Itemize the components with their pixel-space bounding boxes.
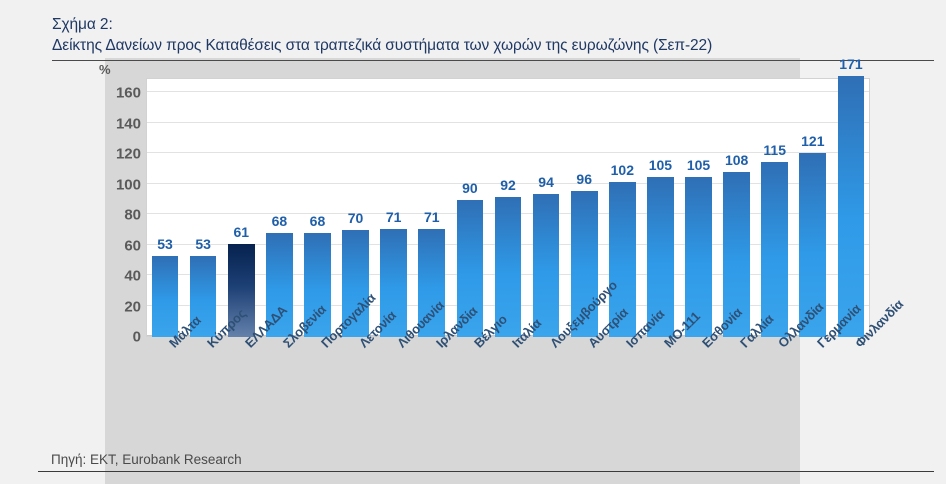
bar-value-label: 68: [310, 213, 326, 229]
y-tick-label-120: 120: [99, 146, 141, 163]
bar-value-label: 121: [801, 133, 824, 149]
y-tick-label-60: 60: [99, 237, 141, 254]
bar-value-label: 105: [649, 157, 672, 173]
y-tick-label-0: 0: [99, 329, 141, 346]
source-note: Πηγή: ΕΚΤ, Eurobank Research: [51, 452, 242, 467]
bar-slot: 53: [184, 78, 222, 337]
bar-value-label: 61: [233, 224, 249, 240]
bar-slot: 61: [222, 78, 260, 337]
bar-Μάλτα[interactable]: [152, 256, 179, 337]
bar-slot: 105: [641, 78, 679, 337]
y-tick-label-20: 20: [99, 298, 141, 315]
bar-slot: 53: [146, 78, 184, 337]
bar-value-label: 108: [725, 152, 748, 168]
bar-slot: 115: [756, 78, 794, 337]
y-tick-label-160: 160: [99, 85, 141, 102]
bar-slot: 71: [375, 78, 413, 337]
bar-value-label: 105: [687, 157, 710, 173]
y-tick-label-80: 80: [99, 207, 141, 224]
y-axis-unit-label: %: [99, 62, 111, 77]
page-root: Σχήμα 2: Δείκτης Δανείων προς Καταθέσεις…: [0, 0, 946, 484]
bar-chart: % 020406080100120140160 5353616868707171…: [0, 0, 946, 484]
bar-value-label: 96: [576, 171, 592, 187]
bar-value-label: 115: [763, 142, 786, 158]
bar-slot: 68: [260, 78, 298, 337]
bar-value-label: 53: [157, 236, 173, 252]
x-axis-labels: ΜάλταΚύπροςΕΛΛΑΔΑΣλοβενίαΠορτογαλίαΛετον…: [146, 340, 870, 420]
bar-value-label: 102: [611, 162, 634, 178]
bar-slot: 94: [527, 78, 565, 337]
y-tick-label-40: 40: [99, 268, 141, 285]
bar-slot: 92: [489, 78, 527, 337]
y-axis-ticks: 020406080100120140160: [95, 78, 141, 337]
bar-slot: 108: [718, 78, 756, 337]
bar-slot: 68: [298, 78, 336, 337]
y-tick-label-100: 100: [99, 176, 141, 193]
bar-value-label: 71: [424, 209, 440, 225]
y-tick-label-140: 140: [99, 115, 141, 132]
bar-value-label: 70: [348, 210, 364, 226]
bar-slot: 105: [679, 78, 717, 337]
bar-value-label: 171: [839, 56, 862, 72]
bar-slot: 171: [832, 78, 870, 337]
bar-value-label: 90: [462, 180, 478, 196]
bar-Φινλανδία[interactable]: [838, 76, 865, 337]
bar-value-label: 94: [538, 174, 554, 190]
bar-value-label: 71: [386, 209, 402, 225]
bar-series: 5353616868707171909294961021051051081151…: [146, 78, 870, 337]
bar-value-label: 53: [195, 236, 211, 252]
bar-value-label: 92: [500, 177, 516, 193]
bar-slot: 90: [451, 78, 489, 337]
bar-slot: 71: [413, 78, 451, 337]
bar-Λουξεμβούργο[interactable]: [533, 194, 560, 337]
bar-value-label: 68: [272, 213, 288, 229]
bar-slot: 121: [794, 78, 832, 337]
footer-divider: [38, 471, 934, 472]
